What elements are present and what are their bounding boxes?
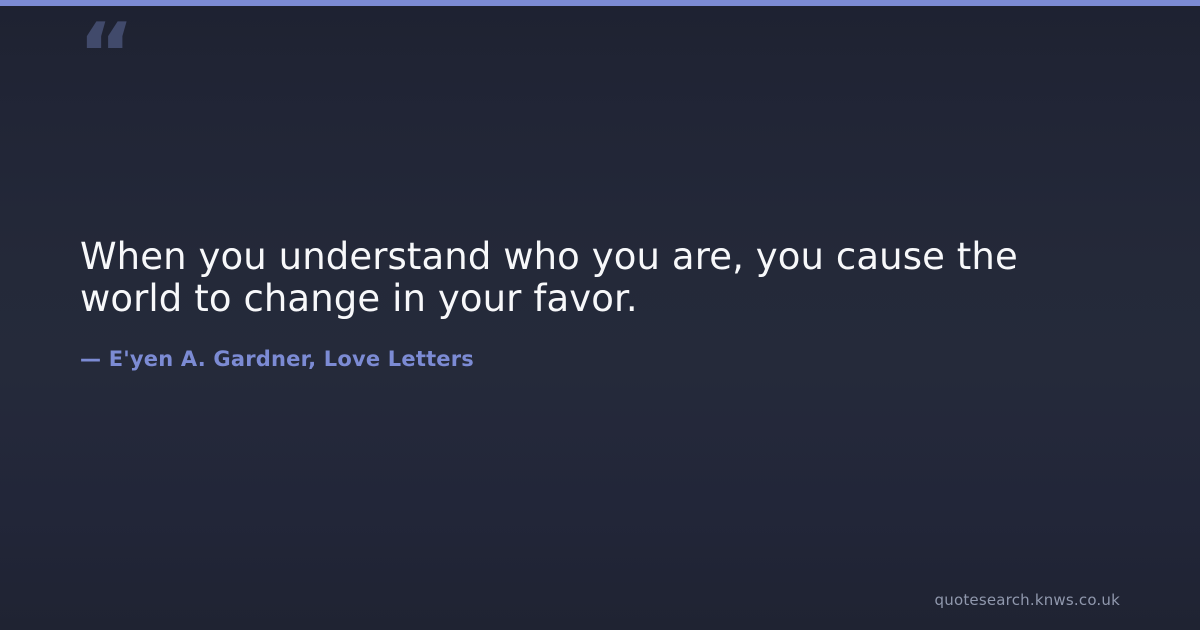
quote-text: When you understand who you are, you cau… xyxy=(80,236,1090,320)
quote-content: When you understand who you are, you cau… xyxy=(80,236,1090,373)
quote-attribution: — E'yen A. Gardner, Love Letters xyxy=(80,320,1090,372)
quote-card: “ When you understand who you are, you c… xyxy=(0,0,1200,630)
quotation-mark-icon: “ xyxy=(78,12,133,98)
site-watermark: quotesearch.knws.co.uk xyxy=(935,593,1120,608)
top-accent-bar xyxy=(0,0,1200,6)
